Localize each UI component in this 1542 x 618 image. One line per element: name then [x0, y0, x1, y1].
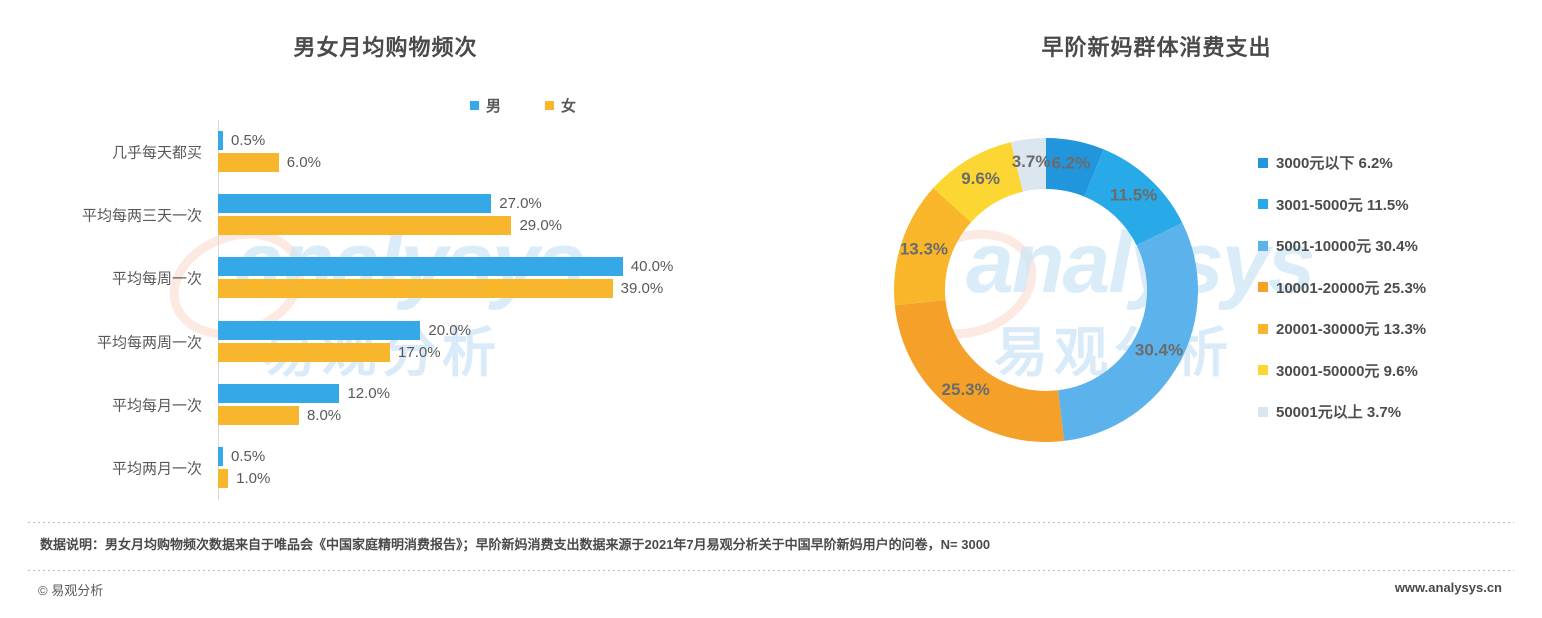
bar-category-label: 平均每两三天一次 [12, 204, 218, 225]
donut-slice-label: 13.3% [900, 239, 948, 258]
bar-rect [218, 384, 339, 403]
bar-value-label: 20.0% [428, 322, 471, 339]
donut-svg: 6.2%11.5%30.4%25.3%13.3%9.6%3.7% [886, 130, 1206, 450]
donut-legend-label: 5001-10000元 30.4% [1276, 235, 1418, 256]
bar-rect [218, 447, 223, 466]
bar-category-label: 平均每周一次 [12, 268, 218, 289]
legend-swatch-icon [1258, 365, 1268, 375]
bar-value-label: 29.0% [519, 217, 562, 234]
legend-swatch-icon [545, 101, 554, 110]
bar-value-label: 0.5% [231, 448, 265, 465]
donut-chart: 6.2%11.5%30.4%25.3%13.3%9.6%3.7% 3000元以下… [771, 80, 1542, 510]
bar-item[interactable]: 27.0% [218, 194, 542, 213]
legend-swatch-icon [1258, 324, 1268, 334]
donut-legend-item[interactable]: 10001-20000元 25.3% [1258, 267, 1528, 309]
bar-rect [218, 321, 420, 340]
donut-slice-label: 3.7% [1012, 152, 1051, 171]
donut-legend-label: 20001-30000元 13.3% [1276, 318, 1426, 339]
legend-swatch-icon [1258, 158, 1268, 168]
bar-item[interactable]: 17.0% [218, 343, 441, 362]
donut-legend-label: 10001-20000元 25.3% [1276, 277, 1426, 298]
donut-slice-label: 25.3% [942, 380, 990, 399]
bar-value-label: 17.0% [398, 344, 441, 361]
bar-group: 平均每两周一次20.0%17.0% [218, 310, 758, 373]
divider-top [28, 522, 1514, 523]
donut-legend-item[interactable]: 3001-5000元 11.5% [1258, 184, 1528, 226]
bar-item[interactable]: 29.0% [218, 216, 562, 235]
bar-item[interactable]: 40.0% [218, 257, 673, 276]
donut-graphic: 6.2%11.5%30.4%25.3%13.3%9.6%3.7% [886, 130, 1206, 450]
bar-item[interactable]: 1.0% [218, 469, 270, 488]
legend-swatch-icon [1258, 199, 1268, 209]
donut-slice-label: 11.5% [1110, 186, 1157, 205]
bar-item[interactable]: 6.0% [218, 153, 321, 172]
donut-legend-label: 50001元以上 3.7% [1276, 401, 1401, 422]
bar-category-label: 几乎每天都买 [12, 141, 218, 162]
donut-chart-legend: 3000元以下 6.2%3001-5000元 11.5%5001-10000元 … [1258, 142, 1528, 433]
donut-chart-title: 早阶新妈群体消费支出 [771, 30, 1542, 62]
bar-legend-item[interactable]: 男 [470, 95, 501, 116]
bar-category-label: 平均两月一次 [12, 458, 218, 479]
bar-item[interactable]: 39.0% [218, 279, 663, 298]
bar-category-label: 平均每月一次 [12, 394, 218, 415]
donut-legend-item[interactable]: 5001-10000元 30.4% [1258, 225, 1528, 267]
bar-group: 平均两月一次0.5%1.0% [218, 437, 758, 500]
bar-item[interactable]: 12.0% [218, 384, 390, 403]
donut-legend-label: 30001-50000元 9.6% [1276, 360, 1418, 381]
donut-legend-item[interactable]: 20001-30000元 13.3% [1258, 308, 1528, 350]
donut-legend-item[interactable]: 50001元以上 3.7% [1258, 391, 1528, 433]
donut-legend-item[interactable]: 3000元以下 6.2% [1258, 142, 1528, 184]
bar-chart-title: 男女月均购物频次 [0, 30, 771, 62]
donut-slice[interactable] [895, 300, 1064, 442]
divider-bottom [28, 570, 1514, 571]
legend-swatch-icon [1258, 241, 1268, 251]
bar-legend-label: 男 [486, 95, 501, 116]
legend-swatch-icon [1258, 282, 1268, 292]
legend-swatch-icon [470, 101, 479, 110]
data-source-note: 数据说明：男女月均购物频次数据来自于唯品会《中国家庭精明消费报告》；早阶新妈消费… [40, 534, 990, 553]
bar-item[interactable]: 8.0% [218, 406, 341, 425]
donut-legend-label: 3001-5000元 11.5% [1276, 194, 1409, 215]
bar-item[interactable]: 20.0% [218, 321, 471, 340]
bar-rect [218, 406, 299, 425]
bar-legend-label: 女 [561, 95, 576, 116]
website-url: www.analysys.cn [1395, 580, 1502, 595]
donut-slice-label: 30.4% [1135, 341, 1183, 360]
bar-value-label: 39.0% [621, 280, 664, 297]
bar-value-label: 6.0% [287, 154, 321, 171]
donut-slice-label: 9.6% [961, 169, 1000, 188]
copyright-text: © 易观分析 [38, 580, 103, 599]
bar-rect [218, 216, 511, 235]
bar-rect [218, 279, 613, 298]
bar-rect [218, 131, 223, 150]
infographic-page: analysys 易观分析 analysys 易观分析 男女月均购物频次 早阶新… [0, 0, 1542, 618]
bar-value-label: 27.0% [499, 195, 542, 212]
donut-slice-label: 6.2% [1051, 153, 1090, 172]
bar-rect [218, 153, 279, 172]
bar-value-label: 0.5% [231, 132, 265, 149]
bar-item[interactable]: 0.5% [218, 447, 265, 466]
donut-legend-label: 3000元以下 6.2% [1276, 152, 1393, 173]
bar-rect [218, 469, 228, 488]
bar-rect [218, 194, 491, 213]
bar-rect [218, 343, 390, 362]
bar-item[interactable]: 0.5% [218, 131, 265, 150]
bar-group: 几乎每天都买0.5%6.0% [218, 120, 758, 183]
bar-group: 平均每月一次12.0%8.0% [218, 373, 758, 436]
bar-rect [218, 257, 623, 276]
bar-legend-item[interactable]: 女 [545, 95, 576, 116]
donut-slice[interactable] [1058, 223, 1198, 441]
bar-chart-legend: 男女 [470, 95, 576, 116]
bar-value-label: 12.0% [347, 385, 390, 402]
legend-swatch-icon [1258, 407, 1268, 417]
bar-value-label: 40.0% [631, 258, 674, 275]
bar-group: 平均每周一次40.0%39.0% [218, 247, 758, 310]
bar-chart-plot-area: 几乎每天都买0.5%6.0%平均每两三天一次27.0%29.0%平均每周一次40… [218, 120, 758, 500]
bar-chart: 男女 几乎每天都买0.5%6.0%平均每两三天一次27.0%29.0%平均每周一… [0, 80, 771, 510]
bar-group: 平均每两三天一次27.0%29.0% [218, 183, 758, 246]
bar-value-label: 8.0% [307, 407, 341, 424]
bar-value-label: 1.0% [236, 470, 270, 487]
bar-category-label: 平均每两周一次 [12, 331, 218, 352]
donut-legend-item[interactable]: 30001-50000元 9.6% [1258, 350, 1528, 392]
